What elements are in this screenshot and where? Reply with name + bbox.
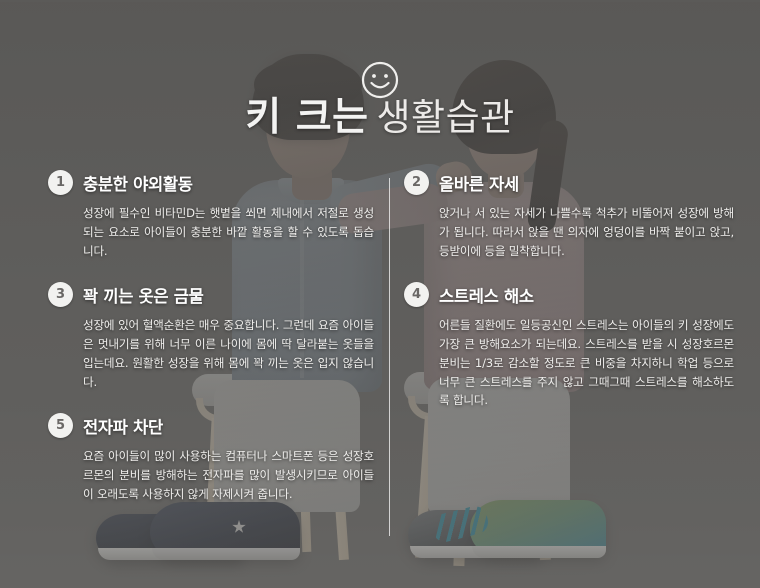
tip-2-number-badge: 2: [404, 170, 429, 195]
tip-item-1: 1 충분한 야외활동 성장에 필수인 비타민D는 햇볕을 쐬면 체내에서 저절로…: [48, 170, 374, 260]
tip-5-number-badge: 5: [48, 413, 73, 438]
title-light-text: 생활습관: [377, 96, 515, 139]
tips-column-left: 1 충분한 야외활동 성장에 필수인 비타민D는 햇볕을 쐬면 체내에서 저절로…: [48, 170, 374, 518]
tip-1-number-badge: 1: [48, 170, 73, 195]
tip-4-title: 스트레스 해소: [439, 283, 534, 307]
column-divider: [389, 178, 390, 536]
tip-5-header: 5 전자파 차단: [48, 413, 374, 438]
tip-item-4: 4 스트레스 해소 어른들 질환에도 일등공신인 스트레스는 아이들의 키 성장…: [404, 282, 734, 410]
tip-2-body: 앉거나 서 있는 자세가 나쁠수록 척추가 비뚤어져 성장에 방해가 됩니다. …: [439, 204, 734, 260]
smiley-face-icon: [360, 60, 400, 100]
tip-item-5: 5 전자파 차단 요즘 아이들이 많이 사용하는 컴퓨터나 스마트폰 등은 성장…: [48, 413, 374, 503]
tip-1-title: 충분한 야외활동: [83, 171, 193, 195]
tip-item-3: 3 꽉 끼는 옷은 금물 성장에 있어 혈액순환은 매우 중요합니다. 그런데 …: [48, 282, 374, 391]
tip-4-header: 4 스트레스 해소: [404, 282, 734, 307]
tip-5-title: 전자파 차단: [83, 414, 163, 438]
poster-content: 키 크는생활습관 1 충분한 야외활동 성장에 필수인 비타민D는 햇볕을 쐬면…: [0, 2, 760, 588]
tip-3-number-badge: 3: [48, 282, 73, 307]
tip-2-header: 2 올바른 자세: [404, 170, 734, 195]
page-title: 키 크는생활습관: [0, 98, 760, 137]
tip-item-2: 2 올바른 자세 앉거나 서 있는 자세가 나쁠수록 척추가 비뚤어져 성장에 …: [404, 170, 734, 260]
infographic-poster: 키 크는생활습관 1 충분한 야외활동 성장에 필수인 비타민D는 햇볕을 쐬면…: [0, 0, 760, 588]
tip-2-title: 올바른 자세: [439, 171, 519, 195]
title-strong-text: 키 크는: [245, 95, 368, 140]
tip-3-title: 꽉 끼는 옷은 금물: [83, 283, 204, 307]
tips-column-right: 2 올바른 자세 앉거나 서 있는 자세가 나쁠수록 척추가 비뚤어져 성장에 …: [404, 170, 734, 424]
tip-4-number-badge: 4: [404, 282, 429, 307]
tip-1-header: 1 충분한 야외활동: [48, 170, 374, 195]
tip-5-body: 요즘 아이들이 많이 사용하는 컴퓨터나 스마트폰 등은 성장호르몬의 분비를 …: [83, 447, 374, 503]
tip-3-body: 성장에 있어 혈액순환은 매우 중요합니다. 그런데 요즘 아이들은 멋내기를 …: [83, 316, 374, 391]
tip-4-body: 어른들 질환에도 일등공신인 스트레스는 아이들의 키 성장에도 가장 큰 방해…: [439, 316, 734, 410]
tip-3-header: 3 꽉 끼는 옷은 금물: [48, 282, 374, 307]
tip-1-body: 성장에 필수인 비타민D는 햇볕을 쐬면 체내에서 저절로 생성되는 요소로 아…: [83, 204, 374, 260]
